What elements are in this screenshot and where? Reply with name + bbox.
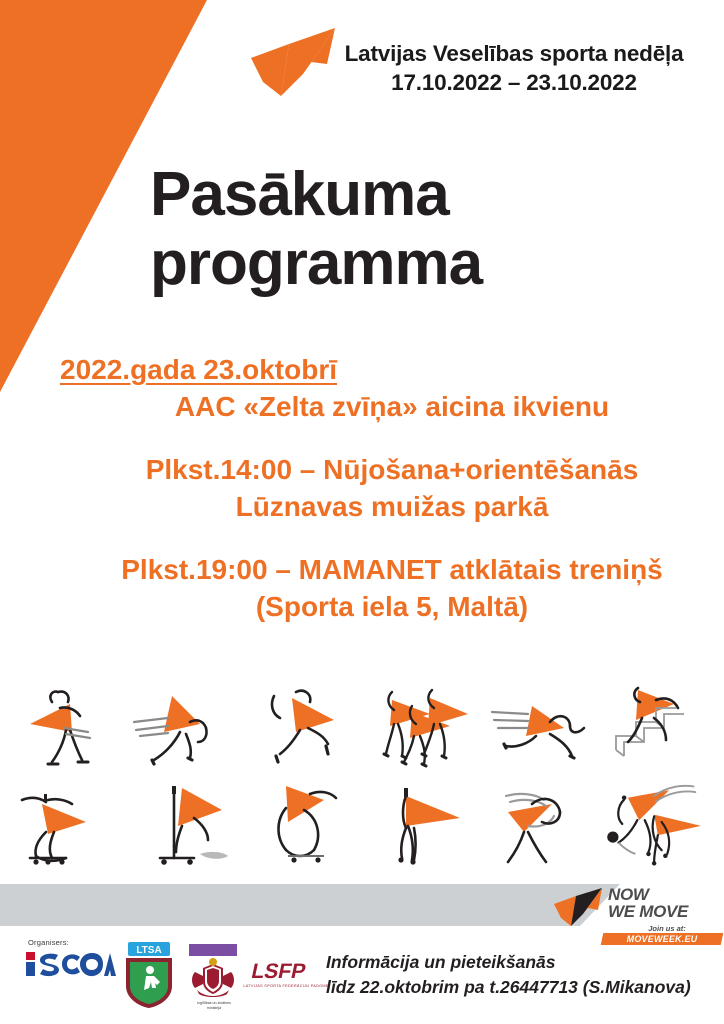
program-entry-1-detail: AAC «Zelta zvīņa» aicina ikvienu — [60, 389, 724, 426]
figure-skater-icon — [8, 676, 128, 774]
figure-climber-icon — [604, 676, 724, 774]
page-title-line2: programma — [150, 229, 710, 298]
nowwemove-join-label: Join us at: — [612, 924, 722, 933]
contact-line1: Informācija un pieteikšanās — [326, 952, 556, 972]
header-title-line2: 17.10.2022 – 23.10.2022 — [312, 69, 716, 98]
izm-logo: Izglītības un zinātnes ministrija — [183, 942, 245, 1012]
isca-logo — [24, 950, 116, 978]
figure-rollerblader-icon — [8, 774, 128, 872]
nowwemove-wordmark: NOW WE MOVE — [608, 886, 688, 920]
organisers-label: Organisers: — [28, 938, 69, 947]
program-entry-1-date: 2022.gada 23.oktobrī — [60, 352, 724, 389]
figure-thrower-icon — [488, 774, 608, 872]
nowwemove-line2: WE MOVE — [608, 903, 688, 920]
figure-runner-icon — [128, 676, 248, 774]
lisa-logo: LTSA — [120, 940, 178, 1010]
stick-figures-row-2 — [0, 774, 724, 872]
figure-scooter-rider-icon — [128, 774, 248, 872]
moveweek-url-text: MOVEWEEK.EU — [602, 933, 722, 945]
program-entry-2-time: Plkst.14:00 – Nūjošana+orientēšanās — [60, 452, 724, 489]
svg-text:LATVIJAS SPORTA FEDERĀCIJU PAD: LATVIJAS SPORTA FEDERĀCIJU PADOME — [243, 984, 329, 988]
page-title-line1: Pasākuma — [150, 160, 449, 229]
program-entry-2-location: Lūznavas muižas parkā — [60, 489, 724, 526]
svg-text:ministrija: ministrija — [207, 1006, 221, 1010]
figure-standing-icon — [368, 774, 488, 872]
header: Latvijas Veselības sporta nedēļa 17.10.2… — [0, 14, 724, 109]
figure-walkers-group-icon — [368, 676, 488, 774]
svg-text:LSFP: LSFP — [249, 960, 307, 983]
page-title: Pasākuma programma — [150, 160, 710, 299]
figure-ball-players-icon — [596, 774, 716, 872]
program-entry-1: 2022.gada 23.oktobrī AAC «Zelta zvīņa» a… — [60, 352, 724, 426]
poster: Latvijas Veselības sporta nedēļa 17.10.2… — [0, 0, 724, 1024]
header-title: Latvijas Veselības sporta nedēļa 17.10.2… — [312, 40, 716, 98]
stick-figures-strip — [0, 676, 724, 876]
svg-text:LTSA: LTSA — [136, 945, 161, 956]
nowwemove-logo: NOW WE MOVE Join us at: MOVEWEEK.EU — [552, 884, 722, 946]
header-title-line1: Latvijas Veselības sporta nedēļa — [345, 41, 684, 66]
contact-line2: līdz 22.oktobrim pa t.26447713 (S.Mikano… — [326, 975, 718, 1000]
moveweek-url-badge[interactable]: MOVEWEEK.EU — [601, 933, 724, 945]
program-entry-2: Plkst.14:00 – Nūjošana+orientēšanās Lūzn… — [60, 452, 724, 526]
figure-sprinter-icon — [488, 676, 608, 774]
figure-jumper-icon — [248, 676, 368, 774]
program-entry-3-time: Plkst.19:00 – MAMANET atklātais treniņš — [60, 552, 724, 589]
sponsor-logos: Organisers: LTSA — [8, 936, 328, 1016]
contact-info: Informācija un pieteikšanās līdz 22.okto… — [326, 950, 718, 1000]
stick-figures-row-1 — [0, 676, 724, 774]
nowwemove-arrow-icon — [552, 886, 606, 934]
program-entry-3: Plkst.19:00 – MAMANET atklātais treniņš … — [60, 552, 724, 626]
figure-cyclist-icon — [248, 774, 368, 872]
lsfp-logo: LSFP LATVIJAS SPORTA FEDERĀCIJU PADOME — [241, 956, 331, 990]
program-entry-3-location: (Sporta iela 5, Maltā) — [60, 589, 724, 626]
svg-text:Izglītības un zinātnes: Izglītības un zinātnes — [197, 1001, 231, 1005]
program-list: 2022.gada 23.oktobrī AAC «Zelta zvīņa» a… — [60, 352, 724, 626]
